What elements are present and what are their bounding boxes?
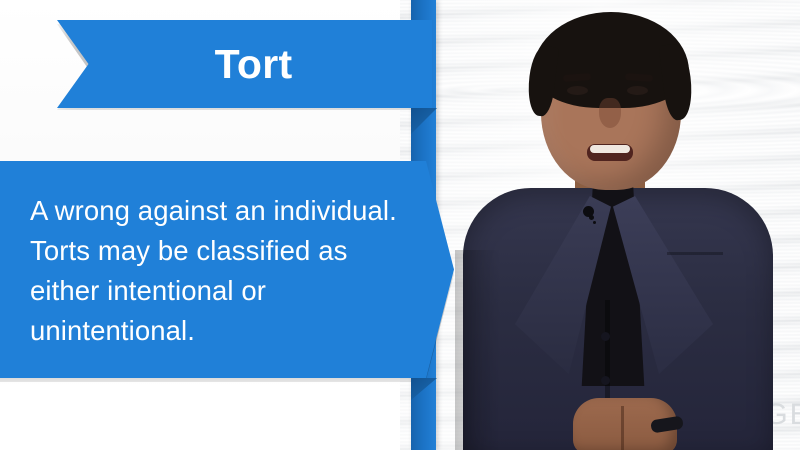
presenter-cast-shadow <box>455 250 501 450</box>
presenter-hands-divider <box>621 406 624 450</box>
presenter-lapel-microphone <box>583 206 594 217</box>
definition-callout: A wrong against an individual. Torts may… <box>0 161 454 378</box>
presenter-mouth <box>587 144 633 161</box>
presenter-teeth <box>590 145 630 153</box>
presenter-figure <box>455 0 800 450</box>
presenter-breast-pocket <box>667 252 723 255</box>
definition-text: A wrong against an individual. Torts may… <box>30 191 410 351</box>
presenter-eye-left <box>567 86 588 95</box>
presenter-jacket-button <box>601 376 610 385</box>
title-banner: Tort <box>57 20 432 108</box>
presenter-nose <box>599 98 621 128</box>
slide-canvas: MEDBRIDGE Tort A <box>0 0 800 450</box>
page-title: Tort <box>197 44 293 85</box>
presenter-eye-right <box>627 86 648 95</box>
presenter-jacket-button <box>601 332 610 341</box>
